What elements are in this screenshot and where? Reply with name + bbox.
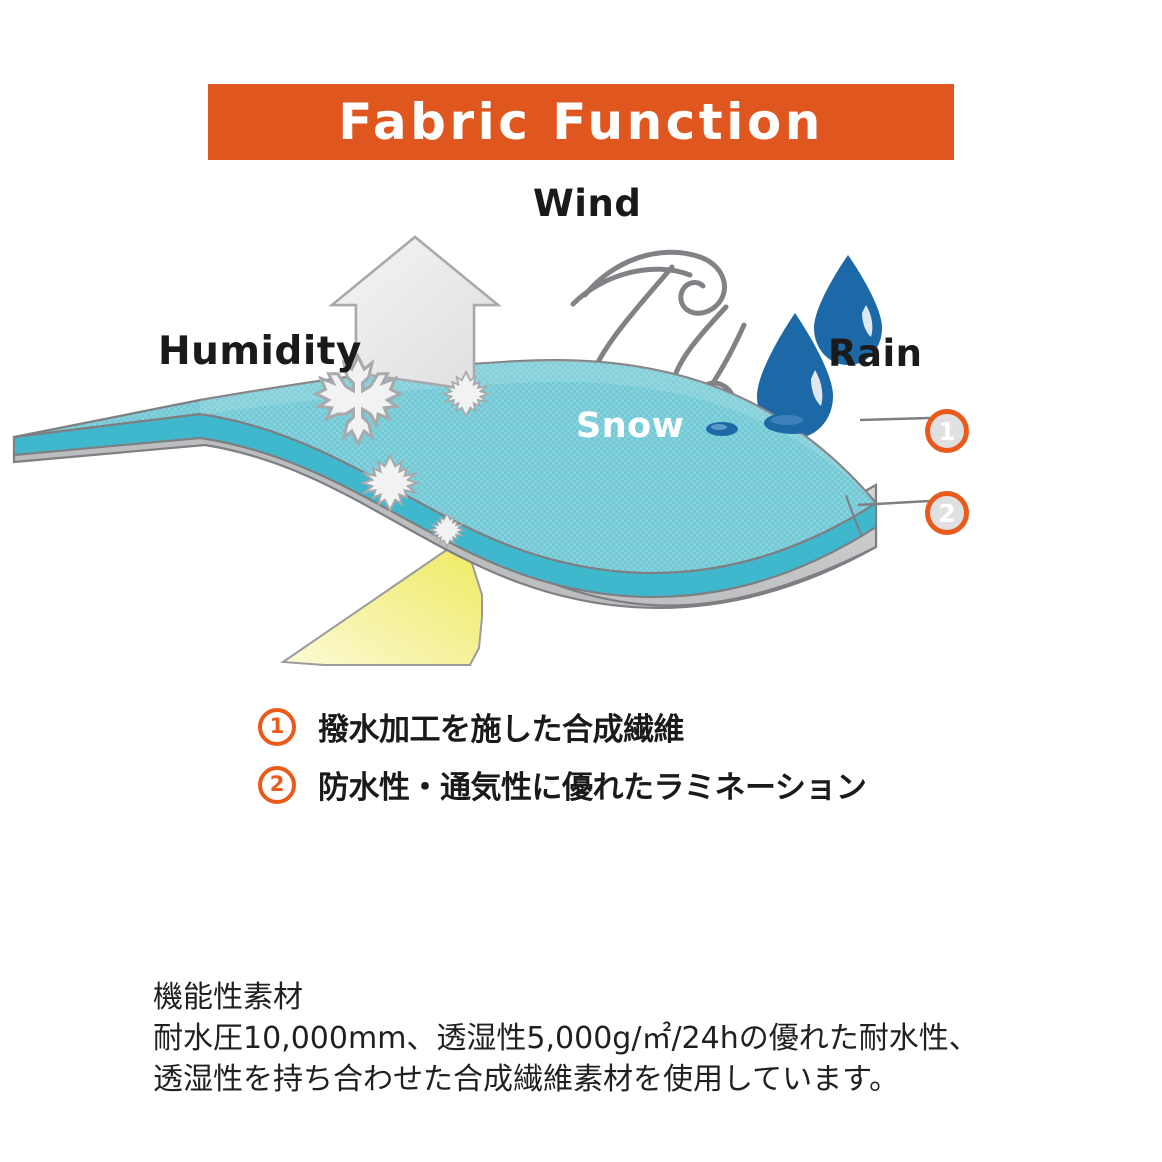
moisture-escape-wedge <box>283 538 482 665</box>
description-line-1: 機能性素材 <box>153 977 1053 1018</box>
description-line-3: 透湿性を持ち合わせた合成繊維素材を使用しています。 <box>153 1059 1053 1100</box>
label-rain: Rain <box>828 332 922 375</box>
callout-badge-2: 2 <box>925 491 969 535</box>
legend-item: 1 撥水加工を施した合成繊維 <box>258 704 1018 749</box>
header-banner: Fabric Function <box>208 84 954 160</box>
description-paragraph: 機能性素材 耐水圧10,000mm、透湿性5,000g/㎡/24hの優れた耐水性… <box>153 977 1053 1100</box>
page-title: Fabric Function <box>338 97 824 147</box>
legend-label-2: 防水性・通気性に優れたラミネーション <box>318 762 866 807</box>
legend: 1 撥水加工を施した合成繊維 2 防水性・通気性に優れたラミネーション <box>258 704 1018 820</box>
label-wind: Wind <box>533 182 641 225</box>
label-humidity: Humidity <box>158 329 362 374</box>
legend-badge-2: 2 <box>258 766 296 804</box>
legend-item: 2 防水性・通気性に優れたラミネーション <box>258 762 1018 807</box>
legend-badge-1: 1 <box>258 708 296 746</box>
legend-label-1: 撥水加工を施した合成繊維 <box>318 704 684 749</box>
callout-badge-1: 1 <box>925 409 969 453</box>
description-line-2: 耐水圧10,000mm、透湿性5,000g/㎡/24hの優れた耐水性、 <box>153 1018 1053 1059</box>
label-snow: Snow <box>576 406 685 446</box>
